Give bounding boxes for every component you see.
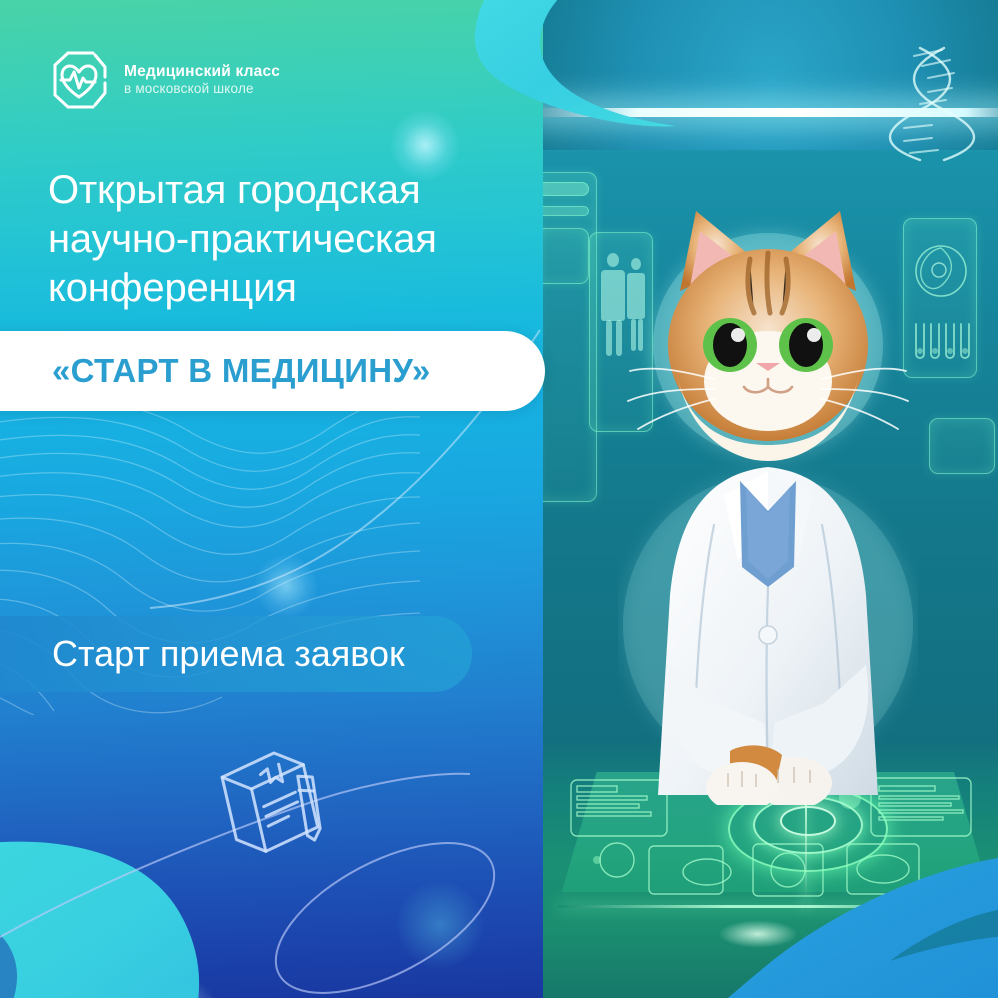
holo-edge-glow [558,905,983,908]
logo-subtitle: в московской школе [124,81,280,97]
event-name-banner: «СТАРТ В МЕДИЦИНУ» [0,331,545,411]
logo-text-block: Медицинский класс в московской школе [124,63,280,97]
headline-line-2: научно-практическая [48,215,528,264]
headline-line-3: конференция [48,264,528,313]
holo-panel-left-block [543,228,589,284]
left-content-panel [0,0,543,998]
poster-root: Медицинский класс в московской школе Отк… [0,0,998,998]
holo-ring-inner [780,806,836,836]
cat-scientist [618,195,918,805]
brand-logo[interactable]: Медицинский класс в московской школе [45,47,280,113]
headline: Открытая городская научно-практическая к… [48,166,528,312]
logo-title: Медицинский класс [124,63,280,81]
hexagon-heart-pulse-icon [45,47,111,113]
headline-line-1: Открытая городская [48,166,528,215]
holo-panel-left-bar2 [543,206,589,216]
event-name-text: «СТАРТ В МЕДИЦИНУ» [52,352,431,390]
holo-light-beam [805,800,807,910]
cta-label: Старт приема заявок [52,633,405,675]
holo-hotspot [718,920,798,948]
cell-diagram-icon [911,240,971,302]
hero-photo [543,0,998,998]
cta-banner[interactable]: Старт приема заявок [0,616,472,692]
test-tube-rack-icon [909,318,975,370]
holo-panel-left-bar [543,182,589,196]
dna-helix-icon [888,42,980,162]
holo-monitor-right [929,418,995,474]
